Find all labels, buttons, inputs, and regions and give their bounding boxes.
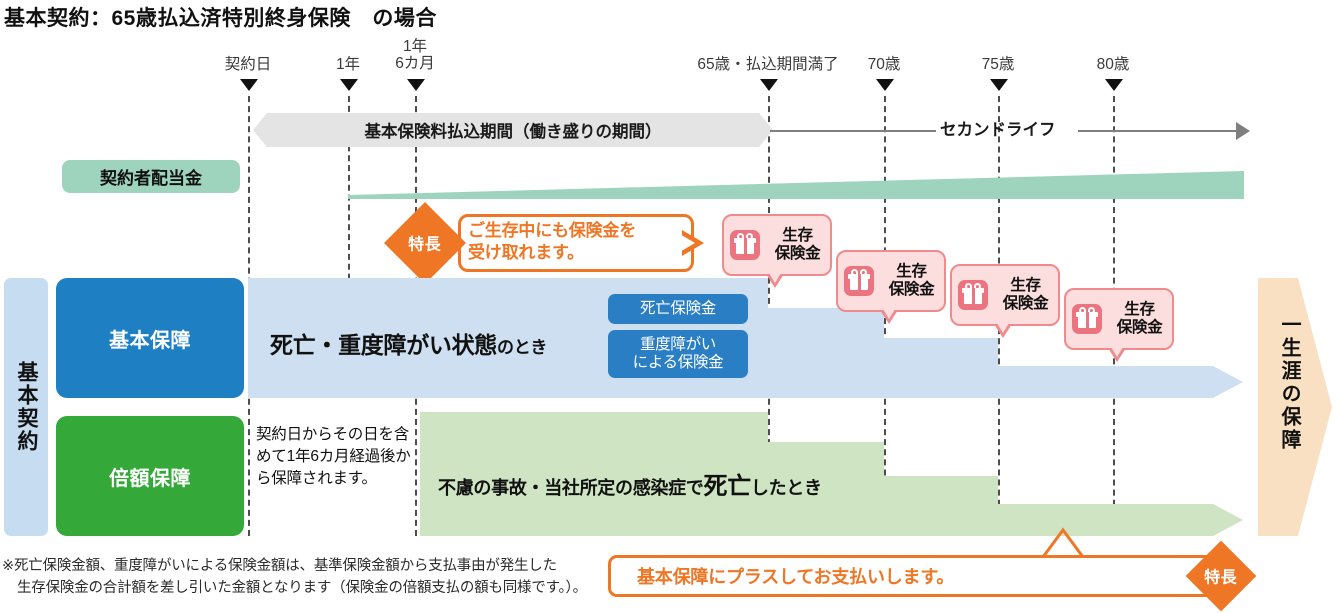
survival-benefit-badge-body: 生存 保険金 bbox=[950, 264, 1060, 326]
survival-benefit-tail-inner bbox=[1111, 347, 1123, 357]
disability-benefit-tag: 重度障がい による保険金 bbox=[608, 330, 748, 378]
survival-benefit-line1: 生存 bbox=[1107, 301, 1172, 319]
basic-coverage-main-text-suffix: のとき bbox=[497, 338, 547, 357]
survival-benefit-line2: 保険金 bbox=[879, 281, 944, 299]
page-title: 基本契約：65歳払込済特別終身保険 の場合 bbox=[4, 2, 437, 32]
survival-benefit-badge: 生存 保険金 bbox=[836, 250, 946, 312]
timeline-label-1year6months-line2: 6カ月 bbox=[375, 55, 455, 72]
survival-benefit-tail-inner bbox=[883, 309, 895, 319]
survival-benefit-tail-inner bbox=[769, 273, 781, 283]
disability-benefit-tag-line1: 重度障がい bbox=[633, 336, 724, 354]
timeline-label-contract-date: 契約日 bbox=[198, 56, 298, 73]
survival-benefit-line1: 生存 bbox=[765, 227, 830, 245]
double-coverage-main-text: 不慮の事故・当社所定の感染症で死亡したとき bbox=[438, 466, 822, 501]
footnote-line2: 生存保険金の合計額を差し引いた金額となります（保険金の倍額支払の額も同様です。）… bbox=[2, 578, 602, 600]
contract-type-column: 基本契約 bbox=[4, 278, 48, 536]
footnote-line1: ※死亡保険金額、重度障がいによる保険金額は、基準保険金額から支払事由が発生した bbox=[2, 558, 557, 574]
survival-benefit-badge: 生存 保険金 bbox=[1064, 288, 1174, 350]
double-coverage-chip-label: 倍額保障 bbox=[109, 462, 191, 491]
lifetime-coverage-arrow: 一生涯の保障 bbox=[1258, 278, 1332, 536]
survival-benefit-badge-body: 生存 保険金 bbox=[722, 214, 832, 276]
basic-coverage-main-text-strong: 死亡・重度障がい状態 bbox=[270, 332, 497, 358]
gift-icon bbox=[958, 280, 988, 310]
survival-benefit-badge: 生存 保険金 bbox=[722, 214, 832, 276]
survival-benefit-text: 生存 保険金 bbox=[765, 227, 830, 262]
timeline-label-age75: 75歳 bbox=[968, 56, 1028, 73]
feature-callout-bottom-text: 基本保障にプラスしてお支払いします。 bbox=[637, 563, 954, 589]
contract-type-label: 基本契約 bbox=[11, 361, 41, 453]
timeline-label-1year6months: 1年 6カ月 bbox=[375, 38, 455, 73]
survival-benefit-badge: 生存 保険金 bbox=[950, 264, 1060, 326]
survival-benefit-badge-body: 生存 保険金 bbox=[1064, 288, 1174, 350]
gift-icon bbox=[730, 230, 760, 260]
basic-coverage-main-text: 死亡・重度障がい状態のとき bbox=[270, 326, 547, 360]
survival-benefit-text: 生存 保険金 bbox=[993, 277, 1058, 312]
premium-payment-period-label: 基本保険料払込期間（働き盛りの期間） bbox=[365, 118, 662, 142]
survival-benefit-line2: 保険金 bbox=[1107, 319, 1172, 337]
timeline-label-age65: 65歳・払込期間満了 bbox=[678, 56, 858, 73]
timeline-marker-age75 bbox=[990, 79, 1008, 91]
timeline-label-age80: 80歳 bbox=[1083, 56, 1143, 73]
death-benefit-tag: 死亡保険金 bbox=[608, 294, 748, 324]
double-coverage-main-text-big: 死亡 bbox=[704, 473, 751, 500]
second-life-line-right bbox=[1078, 130, 1238, 132]
premium-payment-period-bar: 基本保険料払込期間（働き盛りの期間） bbox=[253, 113, 773, 147]
double-coverage-main-text-a: 不慮の事故・当社所定の感染症で bbox=[438, 478, 704, 498]
survival-benefit-tail-inner bbox=[997, 323, 1009, 333]
second-life-arrow: セカンドライフ bbox=[770, 114, 1250, 148]
survival-benefit-text: 生存 保険金 bbox=[879, 263, 944, 298]
feature-callout-bottom-box: 基本保障にプラスしてお支払いします。 bbox=[608, 555, 1236, 597]
second-life-label: セカンドライフ bbox=[940, 116, 1056, 140]
second-life-arrowhead bbox=[1236, 122, 1250, 140]
survival-benefit-line1: 生存 bbox=[993, 277, 1058, 295]
survival-benefit-line2: 保険金 bbox=[993, 295, 1058, 313]
dividend-chip: 契約者配当金 bbox=[62, 160, 240, 193]
gift-icon bbox=[844, 266, 874, 296]
survival-benefit-line2: 保険金 bbox=[765, 245, 830, 263]
dividend-label: 契約者配当金 bbox=[100, 164, 202, 189]
basic-coverage-chip-label: 基本保障 bbox=[109, 324, 191, 353]
lifetime-coverage-label: 一生涯の保障 bbox=[1270, 314, 1304, 452]
feature-badge-bottom: 特長 bbox=[1186, 541, 1257, 612]
survival-benefit-line1: 生存 bbox=[879, 263, 944, 281]
timeline-label-1year6months-line1: 1年 bbox=[375, 38, 455, 55]
footnote: ※死亡保険金額、重度障がいによる保険金額は、基準保険金額から支払事由が発生した … bbox=[2, 556, 602, 600]
timeline-label-age70: 70歳 bbox=[854, 56, 914, 73]
timeline-marker-1year6months bbox=[407, 79, 425, 91]
feature-badge-bottom-label: 特長 bbox=[1204, 564, 1237, 588]
gift-icon bbox=[1072, 304, 1102, 334]
feature-callout-bottom: 基本保障にプラスしてお支払いします。 bbox=[608, 555, 1236, 597]
double-coverage-chip: 倍額保障 bbox=[56, 416, 244, 536]
feature-callout-top-line2: 受け取れます。 bbox=[468, 242, 688, 264]
disability-benefit-tag-line2: による保険金 bbox=[633, 354, 724, 372]
feature-callout-top-text: ご生存中にも保険金を 受け取れます。 bbox=[468, 220, 688, 264]
feature-callout-bottom-pointer bbox=[1040, 527, 1086, 557]
basic-coverage-chip: 基本保障 bbox=[56, 278, 244, 398]
dividend-wedge bbox=[348, 163, 1244, 199]
timeline-marker-contract-date bbox=[240, 79, 258, 91]
double-coverage-main-text-b: したとき bbox=[751, 478, 822, 498]
second-life-line-left bbox=[770, 130, 936, 132]
survival-benefit-badge-body: 生存 保険金 bbox=[836, 250, 946, 312]
survival-benefit-text: 生存 保険金 bbox=[1107, 301, 1172, 336]
feature-badge-top-label: 特長 bbox=[408, 231, 441, 255]
timeline-marker-1year bbox=[340, 79, 358, 91]
timeline-marker-age70 bbox=[876, 79, 894, 91]
timeline-marker-age80 bbox=[1105, 79, 1123, 91]
feature-callout-top-line1: ご生存中にも保険金を bbox=[468, 220, 688, 242]
timeline-marker-age65 bbox=[760, 79, 778, 91]
double-coverage-note: 契約日からその日を含めて1年6カ月経過後から保障されます。 bbox=[256, 424, 412, 490]
